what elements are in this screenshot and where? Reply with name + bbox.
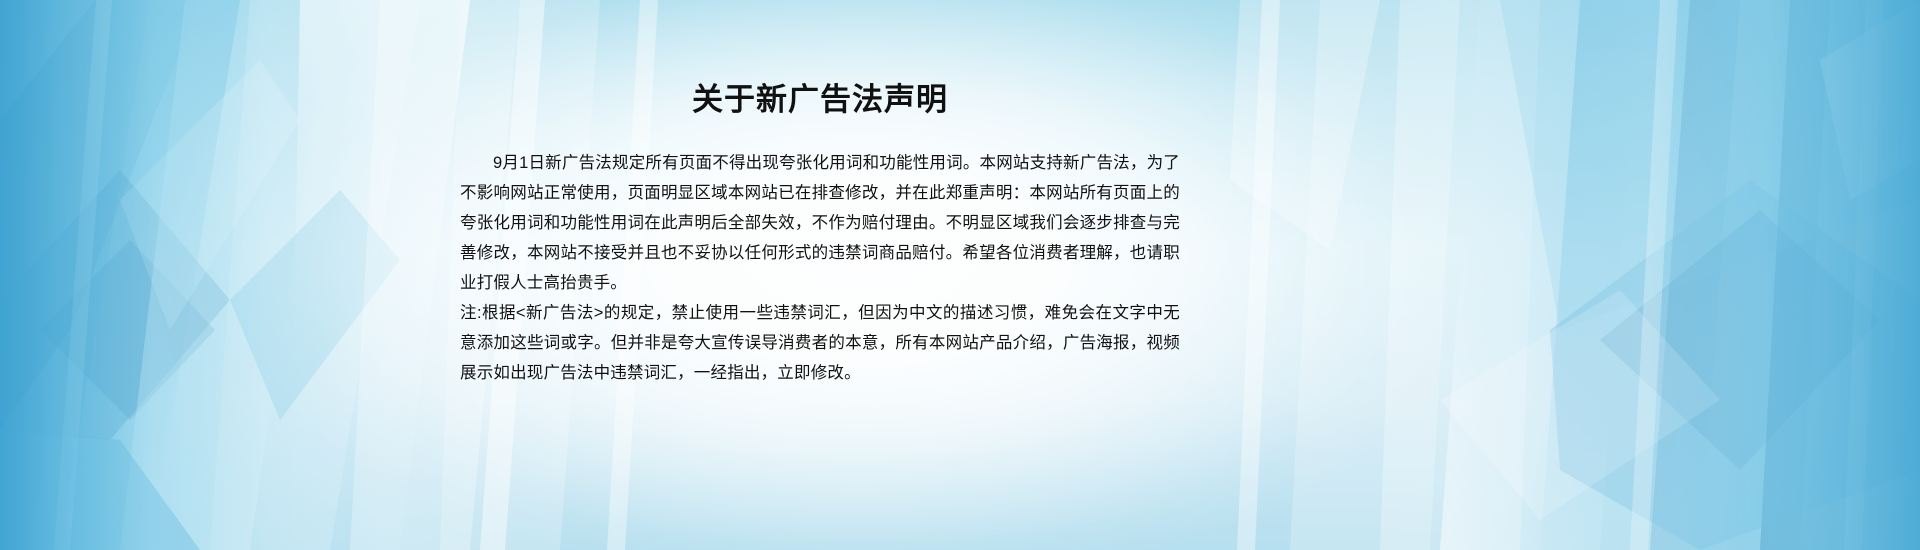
statement-paragraph-2: 注:根据<新广告法>的规定，禁止使用一些违禁词汇，但因为中文的描述习惯，难免会在… bbox=[460, 298, 1180, 388]
statement-banner: 关于新广告法声明 9月1日新广告法规定所有页面不得出现夸张化用词和功能性用词。本… bbox=[0, 0, 1920, 550]
content-area: 关于新广告法声明 9月1日新广告法规定所有页面不得出现夸张化用词和功能性用词。本… bbox=[0, 0, 1920, 550]
statement-card: 关于新广告法声明 9月1日新广告法规定所有页面不得出现夸张化用词和功能性用词。本… bbox=[460, 78, 1180, 388]
page-title: 关于新广告法声明 bbox=[460, 78, 1180, 122]
statement-paragraph-1: 9月1日新广告法规定所有页面不得出现夸张化用词和功能性用词。本网站支持新广告法，… bbox=[460, 148, 1180, 298]
